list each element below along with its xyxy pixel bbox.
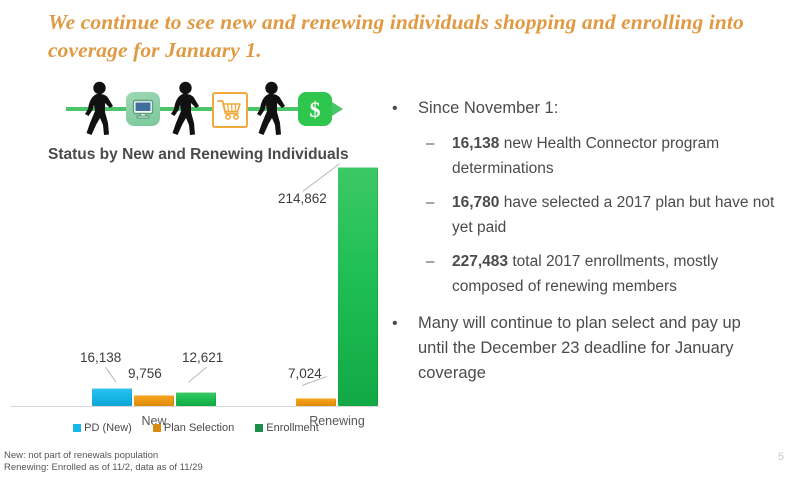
footnote-line-renewing: Renewing: Enrolled as of 11/2, data as o… (4, 462, 203, 474)
process-flow-graphic: $ (60, 78, 352, 140)
bullet-marker: – (426, 249, 452, 274)
chart-axis-line (10, 406, 380, 407)
bullet-text: Many will continue to plan select and pa… (418, 311, 766, 386)
legend-swatch-pd-new (73, 424, 81, 432)
bullet-marker: – (426, 131, 452, 156)
chart-legend: PD (New) Plan Selection Enrollment (6, 422, 386, 434)
legend-swatch-plan-selection (153, 424, 161, 432)
leader-line-renewing-enrollment (303, 163, 340, 191)
shopping-cart-icon (212, 92, 248, 128)
page-title: We continue to see new and renewing indi… (48, 8, 758, 64)
svg-text:$: $ (310, 97, 321, 122)
leader-line-new-enrollment (188, 367, 207, 383)
bullet-bold-value: 227,483 (452, 253, 508, 270)
chart-plot-area: 16,138 9,756 12,621 7,024 214,862 New Re… (6, 154, 386, 398)
bullet-marker: • (392, 96, 418, 121)
walking-person-icon (170, 81, 200, 137)
bullet-text: Since November 1: (418, 96, 558, 121)
bullet-list: • Since November 1: – 16,138 new Health … (392, 96, 792, 396)
legend-item-enrollment[interactable]: Enrollment (255, 422, 319, 434)
bar-new-plan-selection (134, 395, 174, 406)
slide-canvas: We continue to see new and renewing indi… (0, 0, 800, 477)
bar-chart: Status by New and Renewing Individuals 1… (6, 146, 386, 446)
data-label-renewing-plan-selection: 7,024 (288, 366, 322, 381)
monitor-icon (126, 92, 160, 126)
bullet-item-since-november: • Since November 1: (392, 96, 792, 121)
data-label-new-plan-selection: 9,756 (128, 366, 162, 381)
legend-label-enrollment: Enrollment (266, 422, 319, 434)
bullet-rest-text: have selected a 2017 plan but have not y… (452, 194, 774, 236)
legend-label-plan-selection: Plan Selection (164, 422, 234, 434)
leader-line-new-pd (105, 367, 116, 382)
data-label-renewing-enrollment: 214,862 (278, 191, 327, 206)
legend-swatch-enrollment (255, 424, 263, 432)
data-label-new-enrollment: 12,621 (182, 350, 223, 365)
walking-person-icon (84, 81, 114, 137)
dollar-sign-icon: $ (298, 92, 332, 126)
bullet-item-deadline: • Many will continue to plan select and … (392, 311, 792, 386)
bullet-bold-value: 16,780 (452, 194, 499, 211)
legend-item-plan-selection[interactable]: Plan Selection (153, 422, 234, 434)
bar-new-pd (92, 388, 132, 406)
bullet-item-determinations: – 16,138 new Health Connector program de… (426, 131, 792, 181)
arrow-right-icon (332, 102, 343, 116)
walking-person-icon (256, 81, 286, 137)
bullet-item-total-enrollments: – 227,483 total 2017 enrollments, mostly… (426, 249, 792, 299)
bullet-marker: – (426, 190, 452, 215)
bullet-text: 16,780 have selected a 2017 plan but hav… (452, 190, 792, 240)
legend-item-pd-new[interactable]: PD (New) (73, 422, 132, 434)
footnote-line-new: New: not part of renewals population (4, 450, 203, 462)
page-number: 5 (778, 451, 784, 463)
bar-new-enrollment (176, 392, 216, 406)
bullet-text: 227,483 total 2017 enrollments, mostly c… (452, 249, 792, 299)
bar-renewing-enrollment (338, 167, 378, 406)
bullet-bold-value: 16,138 (452, 135, 499, 152)
legend-label-pd-new: PD (New) (84, 422, 132, 434)
bar-renewing-plan-selection (296, 398, 336, 406)
data-label-new-pd: 16,138 (80, 350, 121, 365)
bullet-text: 16,138 new Health Connector program dete… (452, 131, 792, 181)
footnote: New: not part of renewals population Ren… (4, 450, 203, 473)
bullet-item-plan-selected: – 16,780 have selected a 2017 plan but h… (426, 190, 792, 240)
bullet-marker: • (392, 311, 418, 336)
